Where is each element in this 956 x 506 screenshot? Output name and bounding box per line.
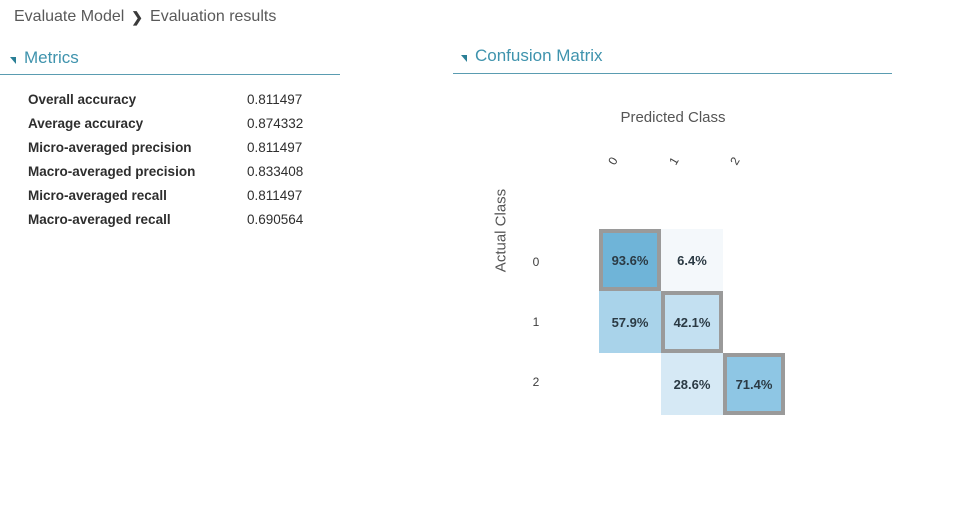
table-row: Average accuracy 0.874332 [28,116,303,140]
table-row: Macro-averaged precision 0.833408 [28,164,303,188]
confusion-cell-2-1[interactable]: 28.6% [661,353,723,415]
column-tick-1: 1 [663,149,685,173]
confusion-matrix-section-header[interactable]: Confusion Matrix [461,46,603,66]
column-tick-0: 0 [602,149,624,173]
actual-class-axis-label: Actual Class [493,161,510,301]
metric-value: 0.690564 [247,212,303,236]
chevron-right-icon: ❯ [131,10,143,24]
metrics-section-divider [0,74,340,75]
metric-label: Macro-averaged recall [28,212,247,236]
confusion-matrix-section-title: Confusion Matrix [475,46,603,66]
metric-label: Macro-averaged precision [28,164,247,188]
metric-value: 0.833408 [247,164,303,188]
table-row: Micro-averaged recall 0.811497 [28,188,303,212]
confusion-matrix-section-divider [453,73,892,74]
confusion-cell-1-0[interactable]: 57.9% [599,291,661,353]
metric-label: Overall accuracy [28,92,247,116]
table-row: Micro-averaged precision 0.811497 [28,140,303,164]
breadcrumb-parent[interactable]: Evaluate Model [14,8,124,26]
breadcrumb-current[interactable]: Evaluation results [150,8,276,26]
table-row: Macro-averaged recall 0.690564 [28,212,303,236]
triangle-collapse-icon[interactable] [10,57,16,64]
confusion-cell-1-1[interactable]: 42.1% [661,291,723,353]
metric-value: 0.811497 [247,188,303,212]
table-row: Overall accuracy 0.811497 [28,92,303,116]
row-tick-1: 1 [525,315,547,329]
confusion-cell-0-1[interactable]: 6.4% [661,229,723,291]
metric-label: Micro-averaged recall [28,188,247,212]
metric-value: 0.811497 [247,92,303,116]
metrics-section-header[interactable]: Metrics [10,48,79,68]
metric-value: 0.874332 [247,116,303,140]
confusion-cell-2-2[interactable]: 71.4% [723,353,785,415]
metrics-table: Overall accuracy 0.811497 Average accura… [28,92,303,236]
predicted-class-axis-label: Predicted Class [453,109,893,126]
confusion-matrix-chart: Predicted Class 0 1 2 Actual Class 0 1 2… [453,92,953,472]
metrics-section-title: Metrics [24,48,79,68]
metric-label: Micro-averaged precision [28,140,247,164]
breadcrumb: Evaluate Model ❯ Evaluation results [14,8,276,26]
confusion-cell-0-0[interactable]: 93.6% [599,229,661,291]
column-tick-2: 2 [724,149,746,173]
row-tick-0: 0 [525,255,547,269]
row-tick-2: 2 [525,375,547,389]
metric-value: 0.811497 [247,140,303,164]
metric-label: Average accuracy [28,116,247,140]
triangle-collapse-icon[interactable] [461,55,467,62]
